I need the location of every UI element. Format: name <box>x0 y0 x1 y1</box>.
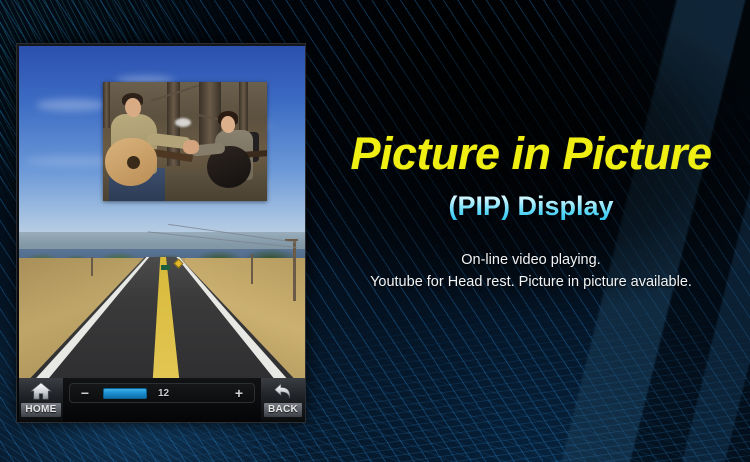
volume-fill <box>103 388 147 399</box>
promo-copy: Picture in Picture (PIP) Display On-line… <box>312 0 750 462</box>
page-title: Picture in Picture <box>350 131 711 176</box>
description-line-1: On-line video playing. <box>370 249 692 271</box>
background-highlight <box>175 118 191 127</box>
volume-plus-button[interactable]: + <box>231 386 247 400</box>
tree-trunk <box>103 82 110 128</box>
device-control-bar: HOME − 12 + <box>19 378 305 422</box>
boy-head <box>221 116 235 133</box>
volume-value: 12 <box>158 388 172 399</box>
utility-pole <box>91 257 93 276</box>
green-highway-sign <box>161 265 170 270</box>
utility-pole <box>251 254 253 284</box>
promo-banner: HOME − 12 + <box>0 0 750 462</box>
back-button-label: BACK <box>264 403 302 417</box>
pip-inset-video[interactable] <box>103 82 267 201</box>
back-button[interactable]: BACK <box>261 378 305 422</box>
home-button[interactable]: HOME <box>19 378 63 422</box>
device-screen[interactable] <box>19 46 305 378</box>
guitar-sound-hole <box>127 156 140 169</box>
volume-minus-button[interactable]: − <box>77 386 93 400</box>
promo-description: On-line video playing. Youtube for Head … <box>370 249 692 293</box>
description-line-2: Youtube for Head rest. Picture in pictur… <box>370 271 692 293</box>
headrest-monitor-device: HOME − 12 + <box>16 43 306 423</box>
volume-slider-control[interactable]: − 12 + <box>69 383 255 403</box>
back-arrow-icon <box>273 381 294 401</box>
volume-track[interactable] <box>103 388 147 399</box>
page-subtitle: (PIP) Display <box>448 193 613 220</box>
handshake <box>183 140 199 154</box>
home-button-label: HOME <box>21 403 60 417</box>
man-head <box>125 98 141 117</box>
home-icon <box>30 381 52 401</box>
